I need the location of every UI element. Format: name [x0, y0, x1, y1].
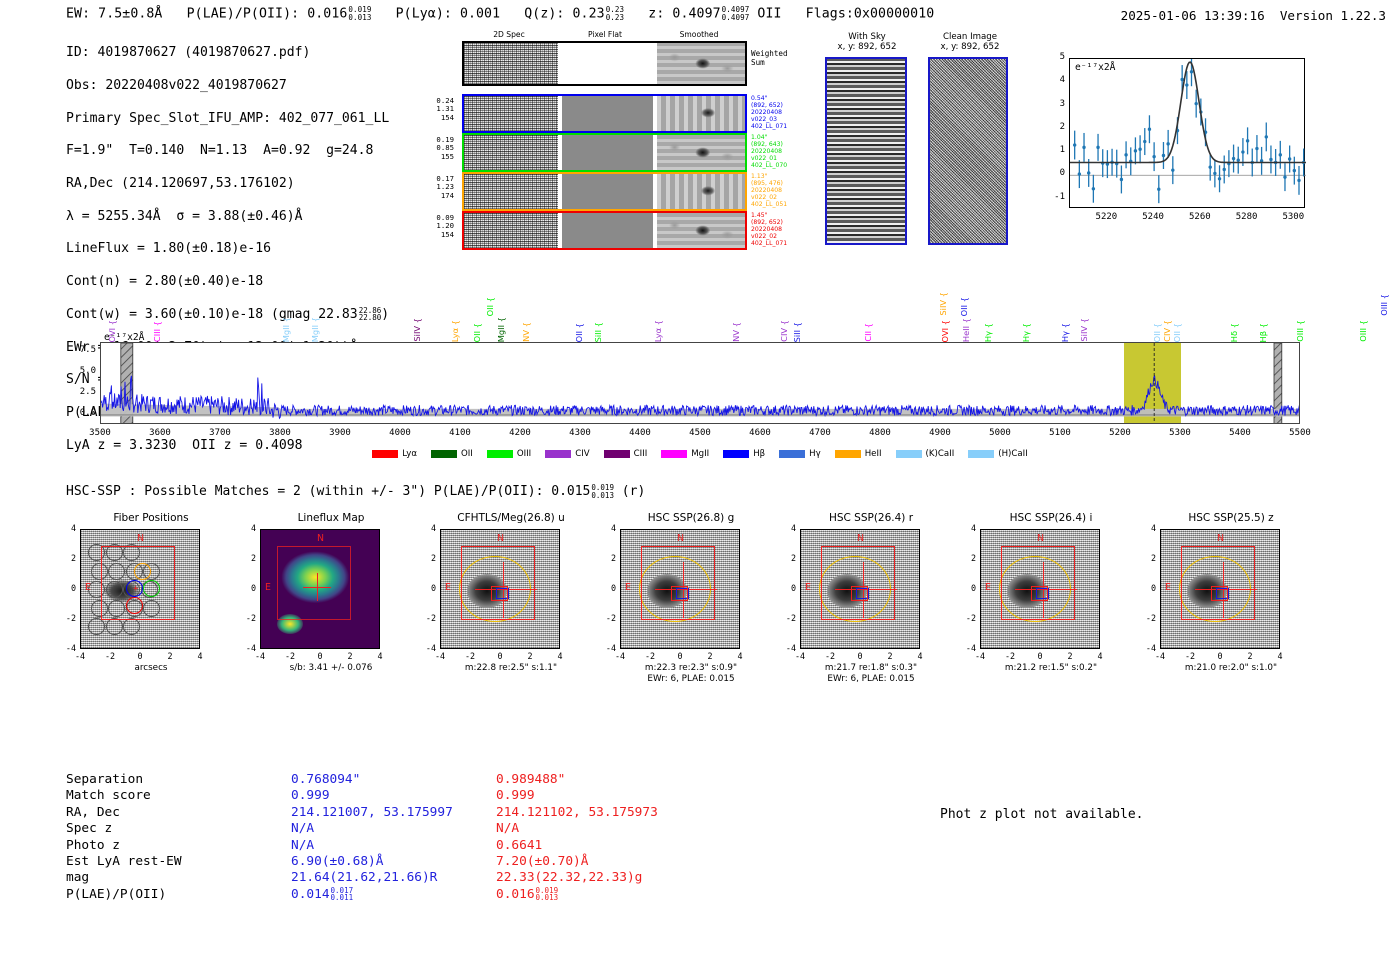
info-slot: Primary Spec_Slot_IFU_AMP: 402_077_061_L…	[66, 111, 389, 127]
fiber-pixelflat-3	[562, 174, 654, 209]
cutout-xtick-6-0: -4	[1150, 651, 1170, 661]
spectrum-line-label-mgii-2: MgII {	[281, 317, 291, 342]
weighted-sum-smoothed	[657, 43, 745, 84]
header-summary-line: EW: 7.5±0.8Å P(LAE)/P(OII): 0.0160.0190.…	[66, 6, 934, 22]
spectrum-xtick-3700: 3700	[198, 428, 242, 438]
col-title-smoothed: Smoothed	[664, 30, 734, 39]
cutout-caption-0: arcsecs	[58, 663, 244, 674]
zoom-ytick-2: 2	[1049, 122, 1065, 132]
orientation-north: N	[1217, 533, 1224, 544]
spectrum-line-label-oiii-30: OIII {	[1295, 320, 1305, 342]
fiber-stats-1: 0.24 1.31 154	[428, 97, 454, 122]
cutout-ytick-0-3: 2	[60, 553, 76, 563]
table-m1-value-7: 0.0140.0170.011	[291, 887, 453, 904]
fiber-2dspec-3	[464, 174, 558, 209]
spectrum-line-label-oii-6: OII {	[472, 323, 482, 342]
cutout-caption-4: m:21.7 re:1.8" s:0.3"EWr: 6, PLAE: 0.015	[778, 663, 964, 685]
fiber-smoothed-3	[657, 174, 745, 209]
spectrum-line-label-siiv-4: SiIV {	[412, 318, 422, 342]
cutout-xtick-3-1: -2	[640, 651, 660, 661]
cutout-ytick-6-3: 2	[1140, 553, 1156, 563]
legend-label-5: MgII	[691, 449, 709, 459]
cutout-ytick-4-2: 0	[780, 583, 796, 593]
spectrum-line-label-civ-14: CIV {	[779, 320, 789, 342]
fiber-smoothed-2	[657, 135, 745, 170]
match-marker-red	[851, 586, 868, 601]
cutout-title-1: Lineflux Map	[238, 512, 424, 526]
cutout-xtick-1-0: -4	[250, 651, 270, 661]
legend-label-10: (H)CaII	[998, 449, 1028, 459]
legend-label-6: Hβ	[753, 449, 765, 459]
cutout-xtick-2-2: 0	[490, 651, 510, 661]
info-id: ID: 4019870627 (4019870627.pdf)	[66, 45, 389, 61]
fiber-stats-2: 0.19 0.85 155	[428, 136, 454, 161]
match-table-column-2: 0.989488"0.999214.121102, 53.175973N/A0.…	[496, 772, 658, 903]
cutout-xtick-5-2: 0	[1030, 651, 1050, 661]
spectrum-line-label-oii-18: OII {	[959, 297, 969, 316]
cutout-ytick-6-1: -2	[1140, 613, 1156, 623]
spectrum-line-label-civ-26: CIV {	[1162, 320, 1172, 342]
fiber-center-marker: +	[133, 584, 138, 594]
cutout-ytick-1-2: 0	[240, 583, 256, 593]
cutout-caption-line1-4: m:21.7 re:1.8" s:0.3"	[778, 663, 964, 674]
legend-swatch-8	[835, 450, 861, 458]
header-timestamp-version: 2025-01-06 13:39:16 Version 1.22.3	[1121, 8, 1386, 23]
cutout-title-2: CFHTLS/Meg(26.8) u	[418, 512, 604, 526]
cutout-panel-5: HSC SSP(26.4) iNE-4-4-2-2002244m:21.2 re…	[958, 512, 1144, 526]
photz-unavailable-note: Phot z plot not available.	[940, 807, 1144, 822]
orientation-north: N	[137, 533, 144, 544]
match-table-column-1: 0.768094"0.999214.121007, 53.175997N/AN/…	[291, 772, 453, 903]
spectrum-line-label-hδ-28: Hδ {	[1229, 323, 1239, 342]
cutout-ytick-2-2: 0	[420, 583, 436, 593]
table-label-7: P(LAE)/P(OII)	[66, 887, 182, 903]
cutout-xtick-4-4: 4	[910, 651, 930, 661]
fiber-smoothed-4	[657, 213, 745, 248]
cutout-xtick-3-2: 0	[670, 651, 690, 661]
spectrum-line-label-ciii-1: CIII {	[152, 321, 162, 342]
spectrum-line-label-nv-13: NV {	[731, 322, 741, 342]
header-flags: Flags:0x00000010	[806, 7, 935, 22]
cutout-panel-6: HSC SSP(25.5) zNE-4-4-2-2002244m:21.0 re…	[1138, 512, 1324, 526]
photometry-red-box	[1001, 546, 1075, 620]
weighted-sum-row	[462, 41, 747, 86]
cutout-ytick-5-3: 2	[960, 553, 976, 563]
cutout-image-5[interactable]: NE	[980, 529, 1100, 649]
cutout-ytick-5-1: -2	[960, 613, 976, 623]
table-m1-value-3: N/A	[291, 821, 453, 837]
spectrum-line-label-cii-16: CII {	[863, 323, 873, 342]
legend-label-9: (K)CaII	[926, 449, 955, 459]
spectrum-xtick-3900: 3900	[318, 428, 362, 438]
orientation-east: E	[805, 582, 811, 593]
cutout-xtick-1-3: 2	[340, 651, 360, 661]
header-z-species: OII	[757, 7, 781, 22]
cutout-caption-6: m:21.0 re:2.0" s:1.0"	[1138, 663, 1324, 674]
spectrum-line-label-nv-9: NV {	[521, 322, 531, 342]
cutout-ytick-3-2: 0	[600, 583, 616, 593]
cutout-caption-line1-6: m:21.0 re:2.0" s:1.0"	[1138, 663, 1324, 674]
header-plae-value: 0.016	[307, 7, 347, 22]
legend-label-3: CIV	[575, 449, 589, 459]
spectrum-line-label-oiii-31: OIII {	[1358, 320, 1368, 342]
header-plae-label: P(LAE)/P(OII):	[187, 7, 300, 22]
cutout-xtick-6-3: 2	[1240, 651, 1260, 661]
cutout-caption-line2-3: EWr: 6, PLAE: 0.015	[598, 674, 784, 685]
spectrum-frame	[100, 342, 1300, 424]
hsc-summary-line: HSC-SSP : Possible Matches = 2 (within +…	[66, 484, 645, 499]
fiber-stats-3: 0.17 1.23 174	[428, 175, 454, 200]
legend-item-4: CIII	[604, 449, 648, 459]
table-m1-value-5: 6.90(±0.68)Å	[291, 854, 453, 870]
spectrum-xtick-3600: 3600	[138, 428, 182, 438]
table-m1-value-4: N/A	[291, 838, 453, 854]
cutout-title-5: HSC SSP(26.4) i	[958, 512, 1144, 526]
cutout-caption-3: m:22.3 re:2.3" s:0.9"EWr: 6, PLAE: 0.015	[598, 663, 784, 685]
cutout-caption-2: m:22.8 re:2.5" s:1.1"	[418, 663, 604, 674]
cutout-ytick-0-4: 4	[60, 523, 76, 533]
cutout-xtick-5-1: -2	[1000, 651, 1020, 661]
stamp-coords-clean: x, y: 892, 652	[941, 42, 1000, 52]
header-qz-lo: 0.23	[606, 14, 624, 22]
orientation-north: N	[497, 533, 504, 544]
lineflux-red-box	[277, 546, 351, 620]
spectrum-line-label-hγ-21: Hγ {	[983, 323, 993, 342]
fiber-row-3	[462, 172, 747, 211]
fiber-meta-1: 0.54" (892, 652) 20220408 v022_03 402_LL…	[751, 95, 809, 130]
cutout-xtick-0-3: 2	[160, 651, 180, 661]
cutout-caption-line1-2: m:22.8 re:2.5" s:1.1"	[418, 663, 604, 674]
spectrum-ytick-0.0: 0.0	[64, 408, 96, 418]
header-qz-value: 0.23	[573, 7, 605, 22]
cutout-image-3[interactable]: NE	[620, 529, 740, 649]
spectrum-xtick-4500: 4500	[678, 428, 722, 438]
orientation-east: E	[1165, 582, 1171, 593]
legend-label-7: Hγ	[809, 449, 821, 459]
spectrum-line-label-siii-11: SiII {	[593, 322, 603, 342]
cutout-image-0[interactable]: +NE	[80, 529, 200, 649]
info-seeing: F=1.9" T=0.140 N=1.13 A=0.92 g=24.8	[66, 143, 389, 159]
cutout-title-0: Fiber Positions	[58, 512, 244, 526]
cutout-panel-0: Fiber Positions+NE-4-4-2-2002244arcsecs	[58, 512, 244, 526]
col-title-2dspec: 2D Spec	[474, 30, 544, 39]
spectrum-line-label-oii-27: OII {	[1172, 323, 1182, 342]
table-m1-value-0: 0.768094"	[291, 772, 453, 788]
cutout-ytick-5-2: 0	[960, 583, 976, 593]
legend-item-2: OIII	[487, 449, 531, 459]
fiber-red-box	[101, 546, 175, 620]
legend-label-1: OII	[461, 449, 473, 459]
table-m2-value-0: 0.989488"	[496, 772, 658, 788]
orientation-east: E	[265, 582, 271, 593]
spectrum-xtick-5400: 5400	[1218, 428, 1262, 438]
orientation-north: N	[317, 533, 324, 544]
cutout-xtick-2-3: 2	[520, 651, 540, 661]
cutout-xtick-1-2: 0	[310, 651, 330, 661]
cutout-ytick-1-1: -2	[240, 613, 256, 623]
cutout-xtick-3-4: 4	[730, 651, 750, 661]
info-lambda: λ = 5255.34Å σ = 3.88(±0.46)Å	[66, 209, 389, 225]
legend-swatch-3	[545, 450, 571, 458]
spectrum-ytick-7.5: 7.5	[64, 345, 96, 355]
orientation-east: E	[85, 582, 91, 593]
fiber-meta-3: 1.13" (895, 476) 20220408 v022_02 402_LL…	[751, 173, 809, 208]
legend-item-9: (K)CaII	[896, 449, 955, 459]
cutout-image-1[interactable]: NE	[260, 529, 380, 649]
cutout-panel-4: HSC SSP(26.4) rNE-4-4-2-2002244m:21.7 re…	[778, 512, 964, 526]
cutout-title-4: HSC SSP(26.4) r	[778, 512, 964, 526]
spectrum-xtick-5300: 5300	[1158, 428, 1202, 438]
stamp-name-with-sky: With Sky	[848, 32, 885, 42]
weighted-sum-label: Weighted Sum	[751, 49, 788, 67]
legend-swatch-10	[968, 450, 994, 458]
cutout-ytick-5-4: 4	[960, 523, 976, 533]
cutout-xtick-4-2: 0	[850, 651, 870, 661]
photometry-red-box	[461, 546, 535, 620]
legend-item-0: Lyα	[372, 449, 417, 459]
spectrum-line-label-lyα-5: Lyα {	[450, 320, 460, 342]
table-label-2: RA, Dec	[66, 805, 182, 821]
legend-item-10: (H)CaII	[968, 449, 1028, 459]
spectrum-line-label-oii-10: OII {	[574, 323, 584, 342]
legend-swatch-7	[779, 450, 805, 458]
legend-item-3: CIV	[545, 449, 589, 459]
cutout-ytick-0-2: 0	[60, 583, 76, 593]
stamp-title-with-sky: With Sky x, y: 892, 652	[812, 32, 922, 52]
spectrum-line-label-oii-7: OII {	[485, 297, 495, 316]
spectrum-xtick-5100: 5100	[1038, 428, 1082, 438]
legend-swatch-2	[487, 450, 513, 458]
cutout-xtick-4-0: -4	[790, 651, 810, 661]
spectrum-flux-annotation: e⁻¹⁷x2Å	[104, 332, 144, 343]
stamp-name-clean: Clean Image	[943, 32, 997, 42]
table-m2-value-3: N/A	[496, 821, 658, 837]
table-label-3: Spec z	[66, 821, 182, 837]
spectrum-xtick-5200: 5200	[1098, 428, 1142, 438]
cutout-title-3: HSC SSP(26.8) g	[598, 512, 784, 526]
fiber-row-2	[462, 133, 747, 172]
zoom-xtick-5300: 5300	[1275, 212, 1311, 222]
table-m2-value-1: 0.999	[496, 788, 658, 804]
legend-label-4: CIII	[634, 449, 648, 459]
zoom-ytick-5: 5	[1049, 52, 1065, 62]
spectrum-legend: LyαOIIOIIICIVCIIIMgIIHβHγHeII(K)CaII(H)C…	[60, 449, 1340, 459]
fiber-circle-15[interactable]	[88, 618, 105, 635]
legend-item-5: MgII	[661, 449, 709, 459]
zoom-plot-flux-annotation: e⁻¹⁷x2Å	[1075, 62, 1115, 73]
fiber-circle-16[interactable]	[106, 618, 123, 635]
cutout-caption-line1-5: m:21.2 re:1.5" s:0.2"	[958, 663, 1144, 674]
cutout-xtick-0-0: -4	[70, 651, 90, 661]
table-label-0: Separation	[66, 772, 182, 788]
cutout-ytick-2-1: -2	[420, 613, 436, 623]
legend-swatch-0	[372, 450, 398, 458]
info-radec: RA,Dec (214.120697,53.176102)	[66, 176, 389, 192]
cutout-panel-3: HSC SSP(26.8) gNE-4-4-2-2002244m:22.3 re…	[598, 512, 784, 526]
cutout-ytick-6-4: 4	[1140, 523, 1156, 533]
cutout-xtick-0-2: 0	[130, 651, 150, 661]
twod-spec-panel: 2D Spec Pixel Flat Smoothed Weighted Sum…	[462, 30, 762, 252]
legend-label-8: HeII	[865, 449, 882, 459]
photometry-red-box	[1181, 546, 1255, 620]
fiber-stats-4: 0.09 1.20 154	[428, 214, 454, 239]
info-obs: Obs: 20220408v022_4019870627	[66, 78, 389, 94]
spectrum-line-label-siiv-17: SiIV {	[938, 292, 948, 316]
version: Version 1.22.3	[1280, 8, 1386, 23]
spectrum-xtick-4100: 4100	[438, 428, 482, 438]
fiber-2dspec-1	[464, 96, 558, 131]
match-marker-red	[671, 586, 688, 601]
header-plae-lo: 0.013	[348, 14, 371, 22]
fiber-smoothed-1	[657, 96, 745, 131]
zoom-plot-frame	[1069, 58, 1305, 208]
legend-swatch-9	[896, 450, 922, 458]
cutout-xtick-0-1: -2	[100, 651, 120, 661]
cutout-row: Fiber Positions+NE-4-4-2-2002244arcsecsL…	[0, 512, 1400, 732]
photometry-red-box	[641, 546, 715, 620]
hsc-summary-band: (r)	[614, 484, 645, 499]
table-label-5: Est LyA rest-EW	[66, 854, 182, 870]
orientation-north: N	[677, 533, 684, 544]
cutout-ytick-2-3: 2	[420, 553, 436, 563]
legend-swatch-1	[431, 450, 457, 458]
cutout-image-6[interactable]: NE	[1160, 529, 1280, 649]
table-m1-value-1: 0.999	[291, 788, 453, 804]
match-table-labels: SeparationMatch scoreRA, DecSpec zPhoto …	[66, 772, 182, 903]
stamp-image-clean	[928, 57, 1008, 245]
cutout-xtick-6-2: 0	[1210, 651, 1230, 661]
cutout-image-2[interactable]: NE	[440, 529, 560, 649]
spectrum-xtick-3500: 3500	[78, 428, 122, 438]
match-marker-red	[1031, 586, 1048, 601]
table-m2-plae: 0.016	[496, 887, 535, 902]
cutout-xtick-3-0: -4	[610, 651, 630, 661]
cutout-caption-line1-1: s/b: 3.41 +/- 0.076	[238, 663, 424, 674]
orientation-east: E	[985, 582, 991, 593]
cutout-xtick-6-1: -2	[1180, 651, 1200, 661]
header-z-lo: 0.4097	[722, 14, 750, 22]
spectrum-xtick-4600: 4600	[738, 428, 782, 438]
match-marker-red	[1211, 586, 1228, 601]
cutout-ytick-0-1: -2	[60, 613, 76, 623]
cutout-xtick-2-0: -4	[430, 651, 450, 661]
orientation-north: N	[857, 533, 864, 544]
cutout-ytick-4-4: 4	[780, 523, 796, 533]
fiber-2dspec-2	[464, 135, 558, 170]
emission-line-zoom-plot: e⁻¹⁷x2Å -1012345 52205240526052805300	[1035, 40, 1315, 255]
table-label-6: mag	[66, 870, 182, 886]
cutout-xtick-6-4: 4	[1270, 651, 1290, 661]
cutout-panel-1: Lineflux MapNE-4-4-2-2002244s/b: 3.41 +/…	[238, 512, 424, 526]
zoom-ytick-0: 0	[1049, 168, 1065, 178]
spectrum-line-label-hγ-23: Hγ {	[1060, 323, 1070, 342]
cutout-caption-1: s/b: 3.41 +/- 0.076	[238, 663, 424, 674]
table-m1-value-2: 214.121007, 53.175997	[291, 805, 453, 821]
cutout-xtick-3-3: 2	[700, 651, 720, 661]
zoom-xtick-5220: 5220	[1088, 212, 1124, 222]
legend-swatch-5	[661, 450, 687, 458]
photometry-red-box	[821, 546, 895, 620]
spectrum-line-label-siii-15: SiII {	[792, 322, 802, 342]
zoom-ytick--1: -1	[1049, 192, 1065, 202]
table-m1-plae-lo: 0.011	[331, 894, 354, 902]
cutout-ytick-6-2: 0	[1140, 583, 1156, 593]
cutout-panel-2: CFHTLS/Meg(26.8) uNE-4-4-2-2002244m:22.8…	[418, 512, 604, 526]
spectrum-ytick-5.0: 5.0	[64, 366, 96, 376]
cutout-image-4[interactable]: NE	[800, 529, 920, 649]
legend-item-6: Hβ	[723, 449, 765, 459]
legend-item-7: Hγ	[779, 449, 821, 459]
cutout-ytick-3-4: 4	[600, 523, 616, 533]
table-m2-value-4: 0.6641	[496, 838, 658, 854]
cutout-caption-line2-4: EWr: 6, PLAE: 0.015	[778, 674, 964, 685]
zoom-ytick-3: 3	[1049, 99, 1065, 109]
fiber-pixelflat-2	[562, 135, 654, 170]
fiber-meta-4: 1.45" (892, 652) 20220408 v022_02 402_LL…	[751, 212, 809, 247]
fiber-meta-2: 1.04" (892, 643) 20220408 v022_01 402_LL…	[751, 134, 809, 169]
hsc-summary-text: HSC-SSP : Possible Matches = 2 (within +…	[66, 484, 590, 499]
spectrum-line-label-oiii-32: OIII {	[1379, 294, 1389, 316]
cutout-ytick-1-3: 2	[240, 553, 256, 563]
fiber-pixelflat-4	[562, 213, 654, 248]
legend-item-8: HeII	[835, 449, 882, 459]
cutout-xtick-4-1: -2	[820, 651, 840, 661]
cutout-xtick-5-3: 2	[1060, 651, 1080, 661]
header-z-value: 0.4097	[672, 7, 720, 22]
match-marker-red	[491, 586, 508, 601]
cutout-caption-line1-3: m:22.3 re:2.3" s:0.9"	[598, 663, 784, 674]
cutout-xtick-1-1: -2	[280, 651, 300, 661]
spectrum-line-label-hβ-29: Hβ {	[1258, 323, 1268, 342]
spectrum-line-label-ovi-19: OVI {	[940, 320, 950, 342]
header-ew: EW: 7.5±0.8Å	[66, 7, 162, 22]
cutout-caption-line1-0: arcsecs	[58, 663, 244, 674]
table-m2-value-5: 7.20(±0.70)Å	[496, 854, 658, 870]
weighted-sum-2dspec	[464, 43, 558, 84]
cutout-ytick-3-1: -2	[600, 613, 616, 623]
lineflux-crosshair-v	[317, 573, 318, 601]
full-spectrum-panel: OVI {CIII {MgII {MgII {SiIV {Lyα {OII {O…	[60, 272, 1340, 467]
cutout-xtick-5-0: -4	[970, 651, 990, 661]
spectrum-xtick-4200: 4200	[498, 428, 542, 438]
table-m2-plae-lo: 0.013	[536, 894, 559, 902]
fiber-row-4	[462, 211, 747, 250]
fiber-row-1	[462, 94, 747, 133]
table-m2-value-7: 0.0160.0190.013	[496, 887, 658, 904]
spectrum-line-label-mgii-8: MgII {	[496, 317, 506, 342]
cutout-ytick-1-4: 4	[240, 523, 256, 533]
orientation-east: E	[625, 582, 631, 593]
cutout-xtick-1-4: 4	[370, 651, 390, 661]
spectrum-line-label-lyα-12: Lyα {	[653, 320, 663, 342]
spectrum-xtick-3800: 3800	[258, 428, 302, 438]
cutout-xtick-4-3: 2	[880, 651, 900, 661]
cutout-ytick-4-3: 2	[780, 553, 796, 563]
spectrum-xtick-5500: 5500	[1278, 428, 1322, 438]
header-z-label: z:	[648, 7, 664, 22]
header-qz-label: Q(z):	[524, 7, 564, 22]
zoom-xtick-5280: 5280	[1229, 212, 1265, 222]
orientation-north: N	[1037, 533, 1044, 544]
cutout-caption-5: m:21.2 re:1.5" s:0.2"	[958, 663, 1144, 674]
fiber-circle-17[interactable]	[123, 618, 140, 635]
table-m2-value-2: 214.121102, 53.175973	[496, 805, 658, 821]
timestamp: 2025-01-06 13:39:16	[1121, 8, 1265, 23]
table-m1-value-6: 21.64(21.62,21.66)R	[291, 870, 453, 886]
stamp-coords-with-sky: x, y: 892, 652	[838, 42, 897, 52]
info-lineflux: LineFlux = 1.80(±0.18)e-16	[66, 241, 389, 257]
stamp-title-clean: Clean Image x, y: 892, 652	[915, 32, 1025, 52]
